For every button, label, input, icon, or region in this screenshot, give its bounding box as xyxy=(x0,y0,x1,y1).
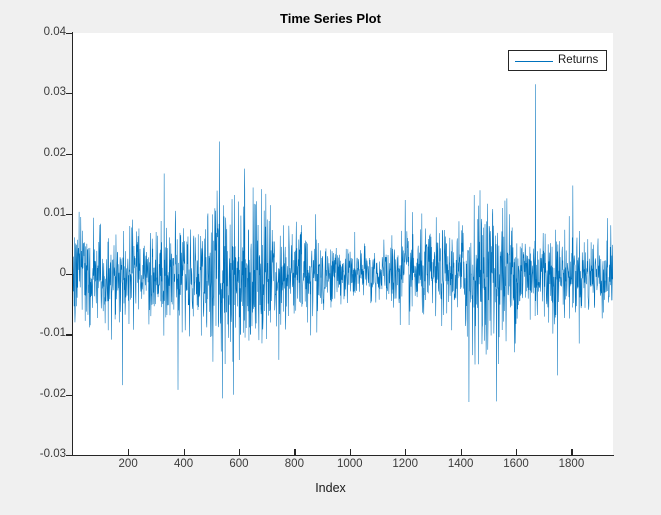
x-tick-label: 1000 xyxy=(320,458,380,470)
x-tick-mark xyxy=(405,449,406,455)
x-tick-mark xyxy=(516,449,517,455)
y-tick-label: 0.01 xyxy=(4,207,66,219)
y-tick-mark xyxy=(66,33,73,34)
series-returns xyxy=(73,33,613,455)
y-tick-label: 0.02 xyxy=(4,147,66,159)
y-tick-label: -0.02 xyxy=(4,388,66,400)
y-tick-mark xyxy=(66,214,73,215)
x-tick-label: 1200 xyxy=(375,458,435,470)
returns-line xyxy=(73,84,613,402)
x-tick-label: 1400 xyxy=(431,458,491,470)
x-axis-title: Index xyxy=(0,481,661,495)
x-tick-label: 1600 xyxy=(486,458,546,470)
y-tick-mark xyxy=(66,154,73,155)
y-tick-label: 0.04 xyxy=(4,26,66,38)
y-tick-mark xyxy=(66,274,73,275)
y-tick-label: 0.03 xyxy=(4,86,66,98)
legend-line-swatch xyxy=(515,61,553,63)
figure-canvas: Time Series Plot -0.03-0.02-0.0100.010.0… xyxy=(0,0,661,515)
y-tick-mark xyxy=(66,395,73,396)
x-tick-label: 600 xyxy=(209,458,269,470)
x-tick-mark xyxy=(184,449,185,455)
x-tick-mark xyxy=(294,449,295,455)
y-axis-line xyxy=(72,32,73,456)
y-tick-mark xyxy=(66,334,73,335)
x-tick-mark xyxy=(461,449,462,455)
y-tick-label: -0.03 xyxy=(4,448,66,460)
y-tick-mark xyxy=(66,455,73,456)
x-tick-mark xyxy=(350,449,351,455)
x-tick-mark xyxy=(571,449,572,455)
x-axis-line xyxy=(72,455,614,456)
legend-box[interactable]: Returns xyxy=(508,50,607,71)
x-tick-mark xyxy=(239,449,240,455)
x-tick-label: 1800 xyxy=(541,458,601,470)
x-tick-mark xyxy=(128,449,129,455)
x-tick-label: 400 xyxy=(154,458,214,470)
y-tick-mark xyxy=(66,93,73,94)
legend-label-returns: Returns xyxy=(558,54,598,66)
x-tick-label: 200 xyxy=(98,458,158,470)
y-tick-label: -0.01 xyxy=(4,327,66,339)
page-title: Time Series Plot xyxy=(0,11,661,26)
y-tick-label: 0 xyxy=(4,267,66,279)
x-tick-label: 800 xyxy=(264,458,324,470)
